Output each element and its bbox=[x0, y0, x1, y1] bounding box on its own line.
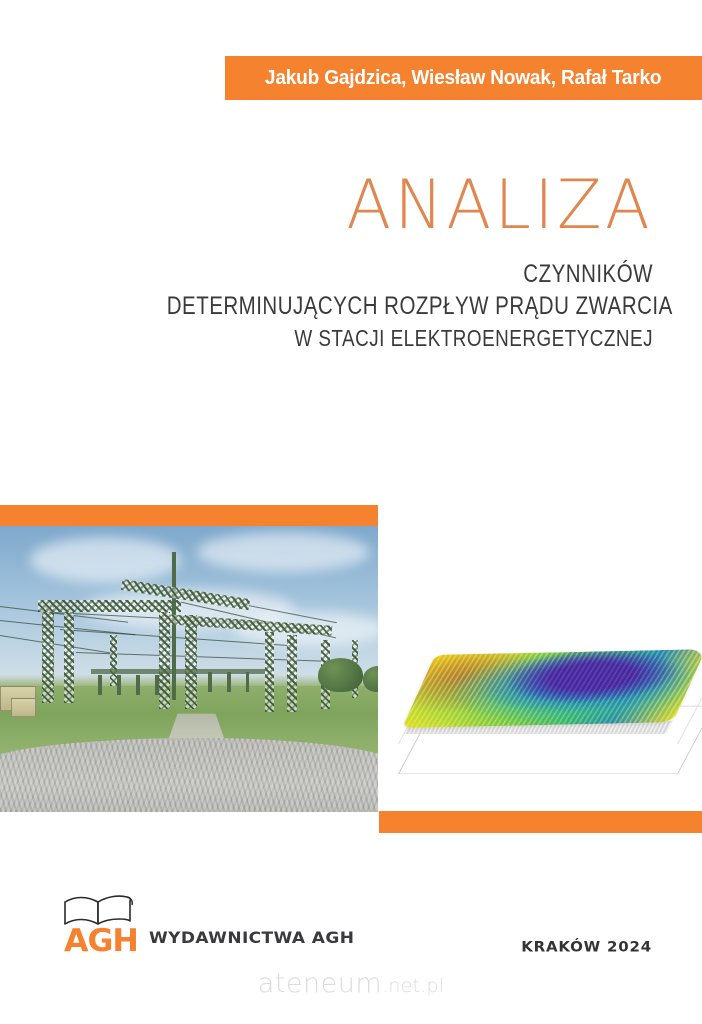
publisher-logo: AGH WYDAWNICTWA AGH bbox=[63, 893, 354, 955]
watermark-main: ateneum bbox=[258, 968, 382, 999]
authors-text: Jakub Gajdzica, Wiesław Nowak, Rafał Tar… bbox=[265, 66, 661, 90]
watermark-tld: .net.pl bbox=[382, 975, 444, 997]
gantry-leg bbox=[265, 632, 275, 712]
busbar bbox=[91, 669, 265, 674]
accent-bar-top-left bbox=[0, 505, 378, 526]
overhead-wire bbox=[0, 635, 112, 654]
insulator-column bbox=[117, 675, 121, 695]
open-book-icon bbox=[63, 893, 137, 927]
gantry-leg bbox=[287, 635, 297, 712]
insulator-column bbox=[208, 672, 212, 692]
gantry-leg bbox=[64, 612, 74, 704]
book-cover: Jakub Gajdzica, Wiesław Nowak, Rafał Tar… bbox=[0, 0, 702, 1024]
insulator-column bbox=[136, 675, 140, 695]
subtitle-line-1: CZYNNIKÓW bbox=[167, 258, 653, 290]
place-and-year: KRAKÓW 2024 bbox=[521, 939, 652, 956]
accent-bar-bottom-right bbox=[379, 811, 702, 833]
plot-3d-surface bbox=[392, 604, 688, 804]
lightning-mast bbox=[172, 552, 176, 701]
insulator-column bbox=[246, 672, 250, 692]
gantry-leg bbox=[185, 615, 196, 709]
authors-banner: Jakub Gajdzica, Wiesław Nowak, Rafał Tar… bbox=[225, 56, 702, 100]
control-cabinet bbox=[11, 698, 36, 717]
page-title: ANALIZA bbox=[84, 168, 653, 244]
agh-logo-letters: AGH bbox=[64, 923, 138, 959]
tree-shape bbox=[318, 658, 363, 692]
paved-walkway bbox=[0, 738, 378, 812]
cloud-shape bbox=[197, 532, 371, 572]
subtitle-line-3: W STACJI ELEKTROENERGETYCZNEJ bbox=[167, 322, 653, 354]
title-block: ANALIZA CZYNNIKÓW DETERMINUJĄCYCH ROZPŁY… bbox=[60, 168, 653, 354]
gravel-path bbox=[169, 713, 225, 738]
gantry-leg bbox=[42, 606, 54, 703]
subtitle-line-2: DETERMINUJĄCYCH ROZPŁYW PRĄDU ZWARCIA bbox=[167, 290, 653, 322]
insulator-column bbox=[155, 675, 159, 695]
publisher-name: WYDAWNICTWA AGH bbox=[149, 929, 354, 948]
gantry-crossbeam bbox=[38, 600, 182, 612]
insulator-column bbox=[98, 675, 102, 695]
site-watermark: ateneum.net.pl bbox=[0, 968, 702, 999]
agh-logo-mark: AGH bbox=[63, 893, 137, 955]
cloud-shape bbox=[30, 537, 181, 583]
surface-ridges bbox=[402, 649, 702, 728]
photo-electrical-substation bbox=[0, 526, 378, 812]
surface-mesh bbox=[402, 649, 702, 728]
gantry-leg bbox=[159, 612, 170, 709]
insulator-column bbox=[227, 672, 231, 692]
subtitle-block: CZYNNIKÓW DETERMINUJĄCYCH ROZPŁYW PRĄDU … bbox=[60, 258, 653, 354]
lattice-tower bbox=[110, 635, 118, 686]
